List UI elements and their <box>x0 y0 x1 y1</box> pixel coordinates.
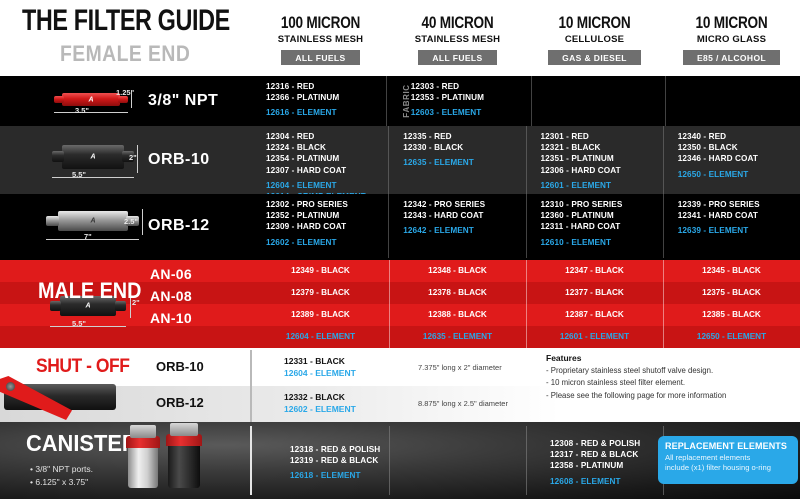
aeromotive-logo-icon: A <box>88 96 93 103</box>
row-label-npt: 3/8" NPT <box>148 92 218 110</box>
column-headers: 100 MICRON STAINLESS MESH ALL FUELS 40 M… <box>252 14 800 76</box>
part-number: 12350 - BLACK <box>678 142 800 153</box>
dimension-length: 5.5" <box>72 319 86 328</box>
row-label-orb10: ORB-10 <box>148 151 210 169</box>
cell-10-micron-cellulose <box>531 76 666 126</box>
part-number: 12311 - HARD COAT <box>541 221 663 232</box>
part-number: 12345 - BLACK <box>663 266 800 275</box>
column-media-label: STAINLESS MESH <box>389 34 526 45</box>
part-number: 12332 - BLACK <box>284 392 345 402</box>
part-number: 12346 - HARD COAT <box>678 153 800 164</box>
part-number: 12318 - RED & POLISH <box>290 444 380 455</box>
part-number-element: 12601 - ELEMENT <box>526 332 663 341</box>
column-media-label: CELLULOSE <box>526 34 663 45</box>
page-title: THE FILTER GUIDE <box>22 6 230 36</box>
part-number-element: 12650 - ELEMENT <box>678 169 800 180</box>
part-number-element: 12603 - ELEMENT <box>411 107 531 118</box>
part-number: 12387 - BLACK <box>526 310 663 319</box>
part-number: 12389 - BLACK <box>252 310 389 319</box>
filter-end-fitting <box>54 96 64 103</box>
dimension-line-length <box>52 177 134 178</box>
part-number: 12317 - RED & BLACK <box>550 449 640 460</box>
features-heading: Features <box>546 353 726 363</box>
cell-100-micron: 12302 - PRO SERIES 12352 - PLATINUM 1230… <box>252 194 388 258</box>
part-number: 12348 - BLACK <box>389 266 526 275</box>
part-number: 12306 - HARD COAT <box>541 165 663 176</box>
size-label-an06: AN-06 <box>150 266 192 282</box>
replacement-elements-callout: REPLACEMENT ELEMENTS All replacement ele… <box>658 436 798 484</box>
row-label-orb12: ORB-12 <box>148 217 210 235</box>
filter-image-orb12: A <box>58 211 128 231</box>
part-number: 12301 - RED <box>541 131 663 142</box>
part-number: 12379 - BLACK <box>252 288 389 297</box>
title-block: THE FILTER GUIDE FEMALE END <box>22 6 288 67</box>
dimension-text: 8.875" long x 2.5" diameter <box>418 399 508 408</box>
part-number: 12353 - PLATINUM <box>411 92 531 103</box>
features-block: Features - Proprietary stainless steel s… <box>546 353 726 400</box>
part-number: 12358 - PLATINUM <box>550 460 640 471</box>
column-fuel-badge: ALL FUELS <box>418 50 496 65</box>
section-title-canister: CANISTER <box>26 430 138 457</box>
cell-10-micron-micro-glass <box>665 76 800 126</box>
callout-line-1: All replacement elements <box>665 453 791 463</box>
dimension-line-length <box>54 112 128 113</box>
part-number: 12316 - RED <box>266 81 386 92</box>
part-number: 12309 - HARD COAT <box>266 221 388 232</box>
section-title-shut-off: SHUT - OFF <box>36 356 129 378</box>
part-number: 12335 - RED <box>403 131 525 142</box>
column-media-label: MICRO GLASS <box>663 34 800 45</box>
part-number-element: 12610 - ELEMENT <box>541 237 663 248</box>
part-number: 12343 - HARD COAT <box>403 210 525 221</box>
part-number: 12378 - BLACK <box>389 288 526 297</box>
part-number-element: 12642 - ELEMENT <box>403 225 525 236</box>
cell-10-micron-micro-glass: 12345 - BLACK 12375 - BLACK 12385 - BLAC… <box>663 258 800 348</box>
part-number: 12341 - HARD COAT <box>678 210 800 221</box>
part-number-element: 12601 - ELEMENT <box>541 180 663 191</box>
part-number: 12304 - RED <box>266 131 388 142</box>
column-header-10-micron-micro-glass: 10 MICRON MICRO GLASS E85 / ALCOHOL <box>663 14 800 76</box>
callout-line-2: include (x1) filter housing o-ring <box>665 463 791 473</box>
filter-guide-page: THE FILTER GUIDE FEMALE END 100 MICRON S… <box>0 0 800 499</box>
dimension-length: 7" <box>84 232 92 241</box>
part-number: 12388 - BLACK <box>389 310 526 319</box>
size-label-an10: AN-10 <box>150 310 192 326</box>
filter-end-fitting <box>52 151 64 162</box>
canister-spec-bullet: • 3/8" NPT ports. <box>30 464 93 474</box>
cell-40-micron: FABRIC 12303 - RED 12353 - PLATINUM 1260… <box>386 76 531 126</box>
dimension-length: 3.5" <box>75 106 89 115</box>
cell-10-micron-cellulose: 12301 - RED 12321 - BLACK 12351 - PLATIN… <box>526 126 663 194</box>
part-number: 12349 - BLACK <box>252 266 389 275</box>
cell-10-micron-micro-glass: 12340 - RED 12350 - BLACK 12346 - HARD C… <box>663 126 800 194</box>
table-row-orb10: A 5.5" 2" ORB-10 12304 - RED 12324 - BLA… <box>0 126 800 194</box>
part-number: 12366 - PLATINUM <box>266 92 386 103</box>
part-number-element: 12650 - ELEMENT <box>663 332 800 341</box>
part-number: 12310 - PRO SERIES <box>541 199 663 210</box>
part-number-element: 12602 - ELEMENT <box>266 237 388 248</box>
column-micron-label: 40 MICRON <box>403 14 513 31</box>
shut-off-section: SHUT - OFF ORB-10 ORB-12 12331 - BLACK 1… <box>0 348 800 422</box>
size-label-orb12: ORB-12 <box>156 395 204 410</box>
part-number-element: 12616 - ELEMENT <box>266 107 386 118</box>
row-cells: 12304 - RED 12324 - BLACK 12354 - PLATIN… <box>252 126 800 194</box>
male-end-section: A 5.5" 2" MALE END AN-06 AN-08 AN-10 123… <box>0 258 800 348</box>
table-row-npt: A 3.5" 1.25" 3/8" NPT 12316 - RED 12366 … <box>0 76 800 126</box>
dimension-text: 7.375" long x 2" diameter <box>418 363 502 372</box>
dimension-line-length <box>46 239 139 240</box>
cell-100-micron: 12316 - RED 12366 - PLATINUM 12616 - ELE… <box>252 76 386 126</box>
column-fuel-badge: E85 / ALCOHOL <box>683 50 780 65</box>
dimension-line-diameter <box>137 145 138 173</box>
aeromotive-logo-icon: A <box>90 154 95 161</box>
male-end-cells: 12349 - BLACK 12379 - BLACK 12389 - BLAC… <box>252 258 800 348</box>
feature-item: - Proprietary stainless steel shutoff va… <box>546 366 726 375</box>
column-micron-label: 100 MICRON <box>266 14 376 31</box>
dimension-diameter: 2.5" <box>124 217 138 226</box>
filter-end-fitting <box>46 216 59 226</box>
part-number: 12375 - BLACK <box>663 288 800 297</box>
cell-100-micron: 12304 - RED 12324 - BLACK 12354 - PLATIN… <box>252 126 388 194</box>
feature-item: - Please see the following page for more… <box>546 391 726 400</box>
part-number: 12303 - RED <box>411 81 531 92</box>
part-number: 12351 - PLATINUM <box>541 153 663 164</box>
part-number-element: 12639 - ELEMENT <box>678 225 800 236</box>
cell-40-micron: 12335 - RED 12330 - BLACK 12635 - ELEMEN… <box>388 126 525 194</box>
row-cells: 12316 - RED 12366 - PLATINUM 12616 - ELE… <box>252 76 800 126</box>
part-number: 12377 - BLACK <box>526 288 663 297</box>
cell-10-micron-cellulose: 12347 - BLACK 12377 - BLACK 12387 - BLAC… <box>526 258 663 348</box>
cell-10-micron-cellulose: 12310 - PRO SERIES 12360 - PLATINUM 1231… <box>526 194 663 258</box>
column-divider <box>389 426 390 495</box>
part-number: 12385 - BLACK <box>663 310 800 319</box>
cell-100-micron: 12318 - RED & POLISH 12319 - RED & BLACK… <box>252 444 380 482</box>
part-number-element: 12604 - ELEMENT <box>266 180 388 191</box>
part-number: 12330 - BLACK <box>403 142 525 153</box>
part-number: 12347 - BLACK <box>526 266 663 275</box>
part-number: 12340 - RED <box>678 131 800 142</box>
part-number-element: 12635 - ELEMENT <box>389 332 526 341</box>
part-number: 12319 - RED & BLACK <box>290 455 380 466</box>
column-header-10-micron-cellulose: 10 MICRON CELLULOSE GAS & DIESEL <box>526 14 663 76</box>
cell-100-micron: 12349 - BLACK 12379 - BLACK 12389 - BLAC… <box>252 258 389 348</box>
canister-image-polish <box>128 444 158 488</box>
canister-image-black <box>168 442 200 488</box>
part-number-element: 12604 - ELEMENT <box>252 332 389 341</box>
aeromotive-logo-icon: A <box>90 218 95 225</box>
size-label-an08: AN-08 <box>150 288 192 304</box>
callout-heading: REPLACEMENT ELEMENTS <box>665 441 791 451</box>
row-cells: 12302 - PRO SERIES 12352 - PLATINUM 1230… <box>252 194 800 258</box>
cell-40-micron: 12342 - PRO SERIES 12343 - HARD COAT 126… <box>388 194 525 258</box>
female-end-section: A 3.5" 1.25" 3/8" NPT 12316 - RED 12366 … <box>0 76 800 258</box>
section-title-female-end: FEMALE END <box>60 41 261 67</box>
part-number: 12307 - HARD COAT <box>266 165 388 176</box>
dimension-line-diameter <box>142 209 143 235</box>
column-header-100-micron: 100 MICRON STAINLESS MESH ALL FUELS <box>252 14 389 76</box>
column-micron-label: 10 MICRON <box>677 14 787 31</box>
part-number: 12339 - PRO SERIES <box>678 199 800 210</box>
column-fuel-badge: GAS & DIESEL <box>548 50 641 65</box>
part-number: 12352 - PLATINUM <box>266 210 388 221</box>
dimension-diameter: 1.25" <box>116 88 134 97</box>
filter-end-fitting <box>118 96 128 103</box>
table-row-orb12: A 7" 2.5" ORB-12 12302 - PRO SERIES 1235… <box>0 194 800 258</box>
part-number: 12324 - BLACK <box>266 142 388 153</box>
part-number: 12360 - PLATINUM <box>541 210 663 221</box>
size-label-orb10: ORB-10 <box>156 359 204 374</box>
cell-40-micron: 12348 - BLACK 12378 - BLACK 12388 - BLAC… <box>389 258 526 348</box>
part-number: 12321 - BLACK <box>541 142 663 153</box>
part-number-element: 12608 - ELEMENT <box>550 476 640 487</box>
part-number: 12308 - RED & POLISH <box>550 438 640 449</box>
fabric-tag: FABRIC <box>402 84 411 117</box>
part-number: 12342 - PRO SERIES <box>403 199 525 210</box>
canister-bracket-black <box>170 423 198 436</box>
section-divider <box>250 350 252 422</box>
filter-image-orb10: A <box>62 145 124 169</box>
canister-spec-bullet: • 6.125" x 3.75" <box>30 477 88 487</box>
feature-item: - 10 micron stainless steel filter eleme… <box>546 378 726 387</box>
part-number-element: 12618 - ELEMENT <box>290 470 380 481</box>
part-number: 12302 - PRO SERIES <box>266 199 388 210</box>
cell-10-micron-micro-glass: 12339 - PRO SERIES 12341 - HARD COAT 126… <box>663 194 800 258</box>
section-title-male-end: MALE END <box>38 278 141 304</box>
column-header-40-micron: 40 MICRON STAINLESS MESH ALL FUELS <box>389 14 526 76</box>
dimension-length: 5.5" <box>72 170 86 179</box>
part-number-element: 12635 - ELEMENT <box>403 157 525 168</box>
column-micron-label: 10 MICRON <box>540 14 650 31</box>
part-number: 12331 - BLACK <box>284 356 345 366</box>
dimension-line-length <box>50 326 126 327</box>
cell-10-micron-cellulose: 12308 - RED & POLISH 12317 - RED & BLACK… <box>526 438 640 487</box>
part-number: 12354 - PLATINUM <box>266 153 388 164</box>
part-number-element: 12604 - ELEMENT <box>284 368 356 378</box>
canister-bracket-polish <box>130 425 156 438</box>
filter-image-npt: A <box>62 93 120 106</box>
shutoff-pivot-bolt <box>6 382 15 391</box>
column-fuel-badge: ALL FUELS <box>281 50 359 65</box>
dimension-diameter: 2" <box>129 153 137 162</box>
column-media-label: STAINLESS MESH <box>252 34 389 45</box>
part-number-element: 12602 - ELEMENT <box>284 404 356 414</box>
